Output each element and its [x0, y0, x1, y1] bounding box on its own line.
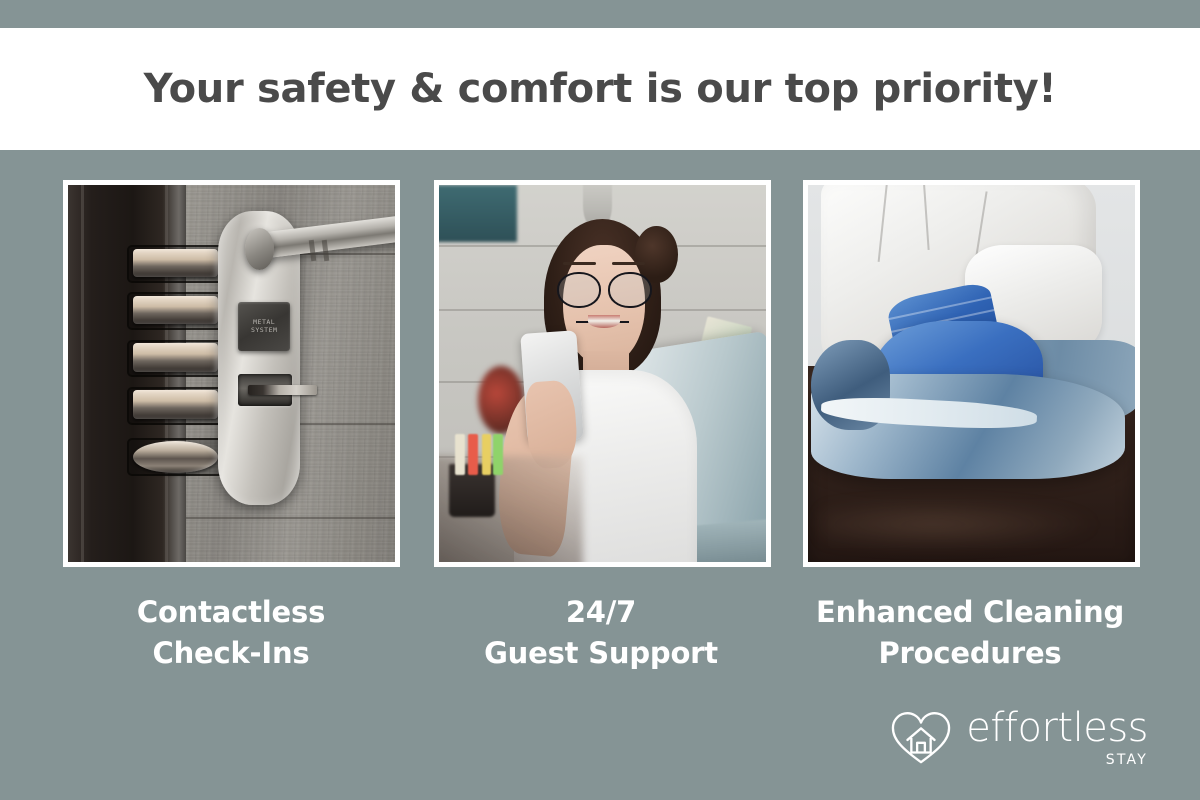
caption-contactless-check-ins: Contactless Check-Ins: [61, 592, 401, 674]
handle-hub: [245, 228, 274, 269]
feature-card-contactless-check-ins: METAL SYSTEM: [63, 180, 400, 567]
logo-wordmark: effortless: [966, 708, 1148, 748]
feature-card-guest-support: [434, 180, 771, 567]
header-banner: Your safety & comfort is our top priorit…: [0, 28, 1200, 150]
heart-house-icon: [890, 709, 952, 767]
teal-cabinet: [439, 185, 517, 242]
photo-frame: [434, 180, 771, 567]
caption-line-2: Guest Support: [431, 633, 771, 674]
pen: [455, 434, 465, 475]
badge-line-1: METAL: [253, 319, 275, 326]
brand-logo: effortless STAY: [890, 708, 1148, 768]
table-reflection: [821, 499, 1102, 550]
cuff-crease: [888, 296, 991, 320]
feature-card-row: METAL SYSTEM: [0, 150, 1200, 590]
photo-frame: [803, 180, 1140, 567]
deadbolt-pin: [133, 390, 218, 418]
caption-line-1: Contactless: [137, 595, 325, 629]
logo-wordmark-group: effortless STAY: [966, 708, 1148, 768]
photo-door-lock: METAL SYSTEM: [68, 185, 395, 562]
feature-card-enhanced-cleaning: [803, 180, 1140, 567]
deadbolt-pin: [133, 296, 218, 324]
page-title: Your safety & comfort is our top priorit…: [144, 66, 1057, 112]
pen: [493, 434, 503, 475]
eyebrow: [563, 262, 596, 265]
deadbolt-pin: [133, 343, 218, 371]
caption-line-2: Procedures: [800, 633, 1140, 674]
suit-fold: [923, 185, 930, 250]
suit-fold: [877, 185, 887, 262]
caption-guest-support: 24/7 Guest Support: [431, 592, 771, 674]
glasses-lens: [608, 272, 652, 308]
glasses-lens: [557, 272, 601, 308]
photo-gloved-hand-cleaning: [808, 185, 1135, 562]
top-accent-band: [0, 0, 1200, 28]
caption-line-2: Check-Ins: [61, 633, 401, 674]
eyeglasses-icon: [557, 272, 652, 304]
jamb-groove: [81, 185, 84, 562]
photo-frame: METAL SYSTEM: [63, 180, 400, 567]
pen: [468, 434, 478, 475]
key-icon: [248, 385, 317, 396]
badge-line-2: SYSTEM: [251, 327, 277, 334]
metal-system-badge: METAL SYSTEM: [238, 302, 290, 351]
eyebrow: [612, 262, 645, 265]
deadbolt-pin: [133, 249, 218, 277]
wood-seam: [186, 517, 395, 519]
caption-row: Contactless Check-Ins 24/7 Guest Support…: [0, 592, 1200, 692]
logo-subtext: STAY: [1106, 752, 1148, 768]
caption-line-1: 24/7: [566, 595, 636, 629]
pen: [482, 434, 492, 475]
caption-enhanced-cleaning: Enhanced Cleaning Procedures: [800, 592, 1140, 674]
poster-canvas: Your safety & comfort is our top priorit…: [0, 0, 1200, 800]
photo-woman-with-phone: [439, 185, 766, 562]
caption-line-1: Enhanced Cleaning: [816, 595, 1124, 629]
